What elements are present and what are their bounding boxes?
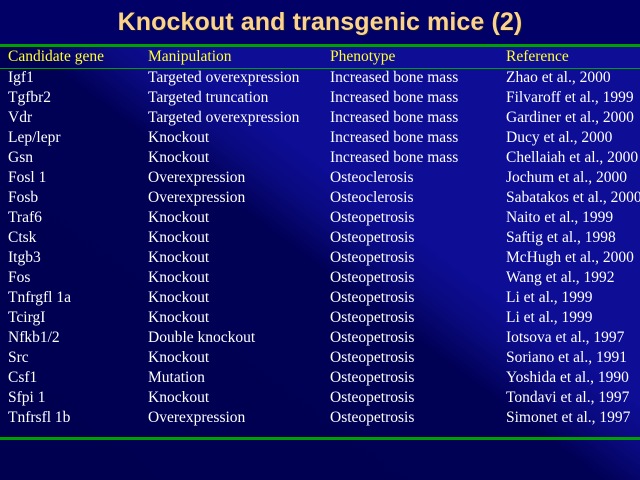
cell-candidate-gene: Igf1 bbox=[0, 68, 146, 88]
cell-reference: Wang et al., 1992 bbox=[504, 268, 640, 288]
cell-manipulation: Overexpression bbox=[146, 408, 328, 428]
cell-phenotype: Osteopetrosis bbox=[328, 348, 504, 368]
cell-reference: McHugh et al., 2000 bbox=[504, 248, 640, 268]
cell-reference: Yoshida et al., 1990 bbox=[504, 368, 640, 388]
cell-phenotype: Osteopetrosis bbox=[328, 248, 504, 268]
cell-candidate-gene: Tgfbr2 bbox=[0, 88, 146, 108]
table-row: TcirgIKnockoutOsteopetrosisLi et al., 19… bbox=[0, 308, 640, 328]
cell-candidate-gene: Sfpi 1 bbox=[0, 388, 146, 408]
cell-reference: Ducy et al., 2000 bbox=[504, 128, 640, 148]
cell-phenotype: Osteopetrosis bbox=[328, 388, 504, 408]
cell-phenotype: Osteoclerosis bbox=[328, 168, 504, 188]
data-table: Candidate gene Manipulation Phenotype Re… bbox=[0, 46, 640, 428]
cell-reference: Chellaiah et al., 2000 bbox=[504, 148, 640, 168]
table-row: Nfkb1/2Double knockoutOsteopetrosisIotso… bbox=[0, 328, 640, 348]
table-row: FosbOverexpressionOsteoclerosisSabatakos… bbox=[0, 188, 640, 208]
cell-candidate-gene: Traf6 bbox=[0, 208, 146, 228]
table-row: VdrTargeted overexpressionIncreased bone… bbox=[0, 108, 640, 128]
table-row: Igf1Targeted overexpressionIncreased bon… bbox=[0, 68, 640, 88]
cell-reference: Tondavi et al., 1997 bbox=[504, 388, 640, 408]
cell-candidate-gene: Lep/lepr bbox=[0, 128, 146, 148]
rule-table-bottom bbox=[0, 437, 640, 440]
table-row: Itgb3KnockoutOsteopetrosisMcHugh et al.,… bbox=[0, 248, 640, 268]
table-header: Candidate gene Manipulation Phenotype Re… bbox=[0, 46, 640, 68]
cell-candidate-gene: Ctsk bbox=[0, 228, 146, 248]
table-row: Tgfbr2Targeted truncationIncreased bone … bbox=[0, 88, 640, 108]
table-row: GsnKnockoutIncreased bone massChellaiah … bbox=[0, 148, 640, 168]
data-table-container: Candidate gene Manipulation Phenotype Re… bbox=[0, 46, 640, 428]
cell-phenotype: Increased bone mass bbox=[328, 68, 504, 88]
cell-manipulation: Mutation bbox=[146, 368, 328, 388]
table-row: Lep/leprKnockoutIncreased bone massDucy … bbox=[0, 128, 640, 148]
cell-manipulation: Targeted overexpression bbox=[146, 108, 328, 128]
cell-manipulation: Knockout bbox=[146, 308, 328, 328]
cell-phenotype: Increased bone mass bbox=[328, 88, 504, 108]
table-row: Tnfrsfl 1bOverexpressionOsteopetrosisSim… bbox=[0, 408, 640, 428]
table-row: CtskKnockoutOsteopetrosisSaftig et al., … bbox=[0, 228, 640, 248]
cell-reference: Li et al., 1999 bbox=[504, 308, 640, 328]
cell-reference: Filvaroff et al., 1999 bbox=[504, 88, 640, 108]
cell-manipulation: Knockout bbox=[146, 228, 328, 248]
cell-candidate-gene: Gsn bbox=[0, 148, 146, 168]
cell-manipulation: Overexpression bbox=[146, 188, 328, 208]
cell-reference: Gardiner et al., 2000 bbox=[504, 108, 640, 128]
cell-candidate-gene: Tnfrgfl 1a bbox=[0, 288, 146, 308]
cell-candidate-gene: Itgb3 bbox=[0, 248, 146, 268]
cell-manipulation: Knockout bbox=[146, 128, 328, 148]
table-row: Tnfrgfl 1aKnockoutOsteopetrosisLi et al.… bbox=[0, 288, 640, 308]
cell-phenotype: Osteopetrosis bbox=[328, 308, 504, 328]
page-title: Knockout and transgenic mice (2) bbox=[118, 8, 523, 37]
cell-candidate-gene: Fosl 1 bbox=[0, 168, 146, 188]
table-row: Csf1MutationOsteopetrosisYoshida et al.,… bbox=[0, 368, 640, 388]
cell-candidate-gene: Nfkb1/2 bbox=[0, 328, 146, 348]
cell-phenotype: Increased bone mass bbox=[328, 108, 504, 128]
table-body: Igf1Targeted overexpressionIncreased bon… bbox=[0, 68, 640, 428]
cell-manipulation: Knockout bbox=[146, 288, 328, 308]
cell-phenotype: Increased bone mass bbox=[328, 148, 504, 168]
table-row: Traf6KnockoutOsteopetrosisNaito et al., … bbox=[0, 208, 640, 228]
cell-manipulation: Knockout bbox=[146, 208, 328, 228]
cell-reference: Soriano et al., 1991 bbox=[504, 348, 640, 368]
cell-manipulation: Targeted overexpression bbox=[146, 68, 328, 88]
cell-reference: Naito et al., 1999 bbox=[504, 208, 640, 228]
cell-reference: Simonet et al., 1997 bbox=[504, 408, 640, 428]
cell-reference: Jochum et al., 2000 bbox=[504, 168, 640, 188]
cell-candidate-gene: Vdr bbox=[0, 108, 146, 128]
table-row: FosKnockoutOsteopetrosisWang et al., 199… bbox=[0, 268, 640, 288]
column-header-candidate-gene: Candidate gene bbox=[0, 46, 146, 68]
cell-phenotype: Osteopetrosis bbox=[328, 288, 504, 308]
cell-manipulation: Overexpression bbox=[146, 168, 328, 188]
cell-candidate-gene: Tnfrsfl 1b bbox=[0, 408, 146, 428]
table-header-row: Candidate gene Manipulation Phenotype Re… bbox=[0, 46, 640, 68]
cell-manipulation: Knockout bbox=[146, 148, 328, 168]
cell-manipulation: Knockout bbox=[146, 268, 328, 288]
table-row: SrcKnockoutOsteopetrosisSoriano et al., … bbox=[0, 348, 640, 368]
cell-reference: Iotsova et al., 1997 bbox=[504, 328, 640, 348]
cell-manipulation: Targeted truncation bbox=[146, 88, 328, 108]
cell-manipulation: Knockout bbox=[146, 248, 328, 268]
cell-phenotype: Osteopetrosis bbox=[328, 328, 504, 348]
cell-manipulation: Double knockout bbox=[146, 328, 328, 348]
cell-reference: Sabatakos et al., 2000 bbox=[504, 188, 640, 208]
cell-phenotype: Osteopetrosis bbox=[328, 408, 504, 428]
cell-phenotype: Osteoclerosis bbox=[328, 188, 504, 208]
cell-reference: Zhao et al., 2000 bbox=[504, 68, 640, 88]
cell-candidate-gene: Fos bbox=[0, 268, 146, 288]
cell-phenotype: Osteopetrosis bbox=[328, 208, 504, 228]
cell-phenotype: Osteopetrosis bbox=[328, 368, 504, 388]
cell-phenotype: Osteopetrosis bbox=[328, 228, 504, 248]
cell-phenotype: Osteopetrosis bbox=[328, 268, 504, 288]
column-header-phenotype: Phenotype bbox=[328, 46, 504, 68]
cell-manipulation: Knockout bbox=[146, 348, 328, 368]
cell-candidate-gene: Fosb bbox=[0, 188, 146, 208]
cell-candidate-gene: Src bbox=[0, 348, 146, 368]
cell-phenotype: Increased bone mass bbox=[328, 128, 504, 148]
table-row: Fosl 1OverexpressionOsteoclerosisJochum … bbox=[0, 168, 640, 188]
cell-candidate-gene: Csf1 bbox=[0, 368, 146, 388]
cell-reference: Li et al., 1999 bbox=[504, 288, 640, 308]
column-header-reference: Reference bbox=[504, 46, 640, 68]
cell-candidate-gene: TcirgI bbox=[0, 308, 146, 328]
title-bar: Knockout and transgenic mice (2) bbox=[0, 0, 640, 44]
cell-reference: Saftig et al., 1998 bbox=[504, 228, 640, 248]
slide: Knockout and transgenic mice (2) Candida… bbox=[0, 0, 640, 480]
table-row: Sfpi 1KnockoutOsteopetrosisTondavi et al… bbox=[0, 388, 640, 408]
cell-manipulation: Knockout bbox=[146, 388, 328, 408]
column-header-manipulation: Manipulation bbox=[146, 46, 328, 68]
